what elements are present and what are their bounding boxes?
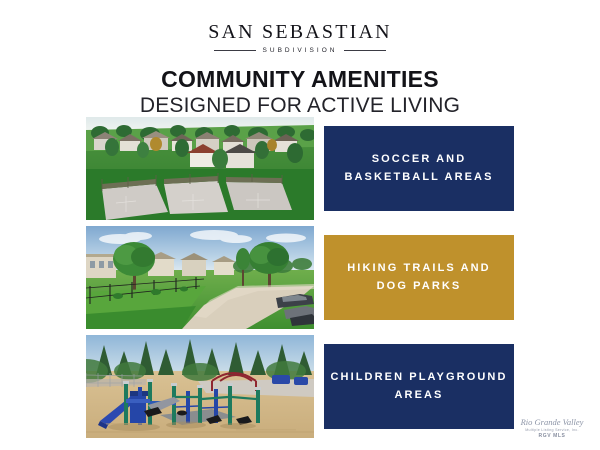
amenity-list: SOCCER AND BASKETBALL AREAS xyxy=(86,117,514,444)
amenity-photo-soccer-basketball xyxy=(86,117,314,220)
amenity-label-block: SOCCER AND BASKETBALL AREAS xyxy=(324,126,514,211)
watermark-tagline: Multiple Listing Service, Inc. xyxy=(518,428,586,432)
amenity-photo-hiking-trails xyxy=(86,226,314,329)
amenity-label-block: CHILDREN PLAYGROUND AREAS xyxy=(324,344,514,429)
page-title: COMMUNITY AMENITIES DESIGNED FOR ACTIVE … xyxy=(0,67,600,118)
brand-rule-right xyxy=(344,50,386,51)
amenity-label-text: CHILDREN PLAYGROUND AREAS xyxy=(324,369,514,403)
headline-secondary: DESIGNED FOR ACTIVE LIVING xyxy=(0,94,600,118)
amenity-row: CHILDREN PLAYGROUND AREAS xyxy=(86,335,514,438)
headline-primary: COMMUNITY AMENITIES xyxy=(0,67,600,93)
mls-watermark: Rio Grande Valley Multiple Listing Servi… xyxy=(518,418,586,439)
amenity-row: SOCCER AND BASKETBALL AREAS xyxy=(86,117,514,220)
brand-subtitle: SUBDIVISION xyxy=(263,47,338,54)
amenity-photo-playground xyxy=(86,335,314,438)
brand-subtitle-row: SUBDIVISION xyxy=(0,47,600,54)
brand-logo: SAN SEBASTIAN SUBDIVISION xyxy=(0,0,600,54)
brand-name: SAN SEBASTIAN xyxy=(0,22,600,42)
amenity-label-block: HIKING TRAILS AND DOG PARKS xyxy=(324,235,514,320)
watermark-mls-text: RGV MLS xyxy=(518,433,586,439)
amenity-label-text: SOCCER AND BASKETBALL AREAS xyxy=(324,151,514,185)
amenity-label-text: HIKING TRAILS AND DOG PARKS xyxy=(324,260,514,294)
watermark-script-text: Rio Grande Valley xyxy=(518,418,586,427)
brand-rule-left xyxy=(214,50,256,51)
amenity-row: HIKING TRAILS AND DOG PARKS xyxy=(86,226,514,329)
